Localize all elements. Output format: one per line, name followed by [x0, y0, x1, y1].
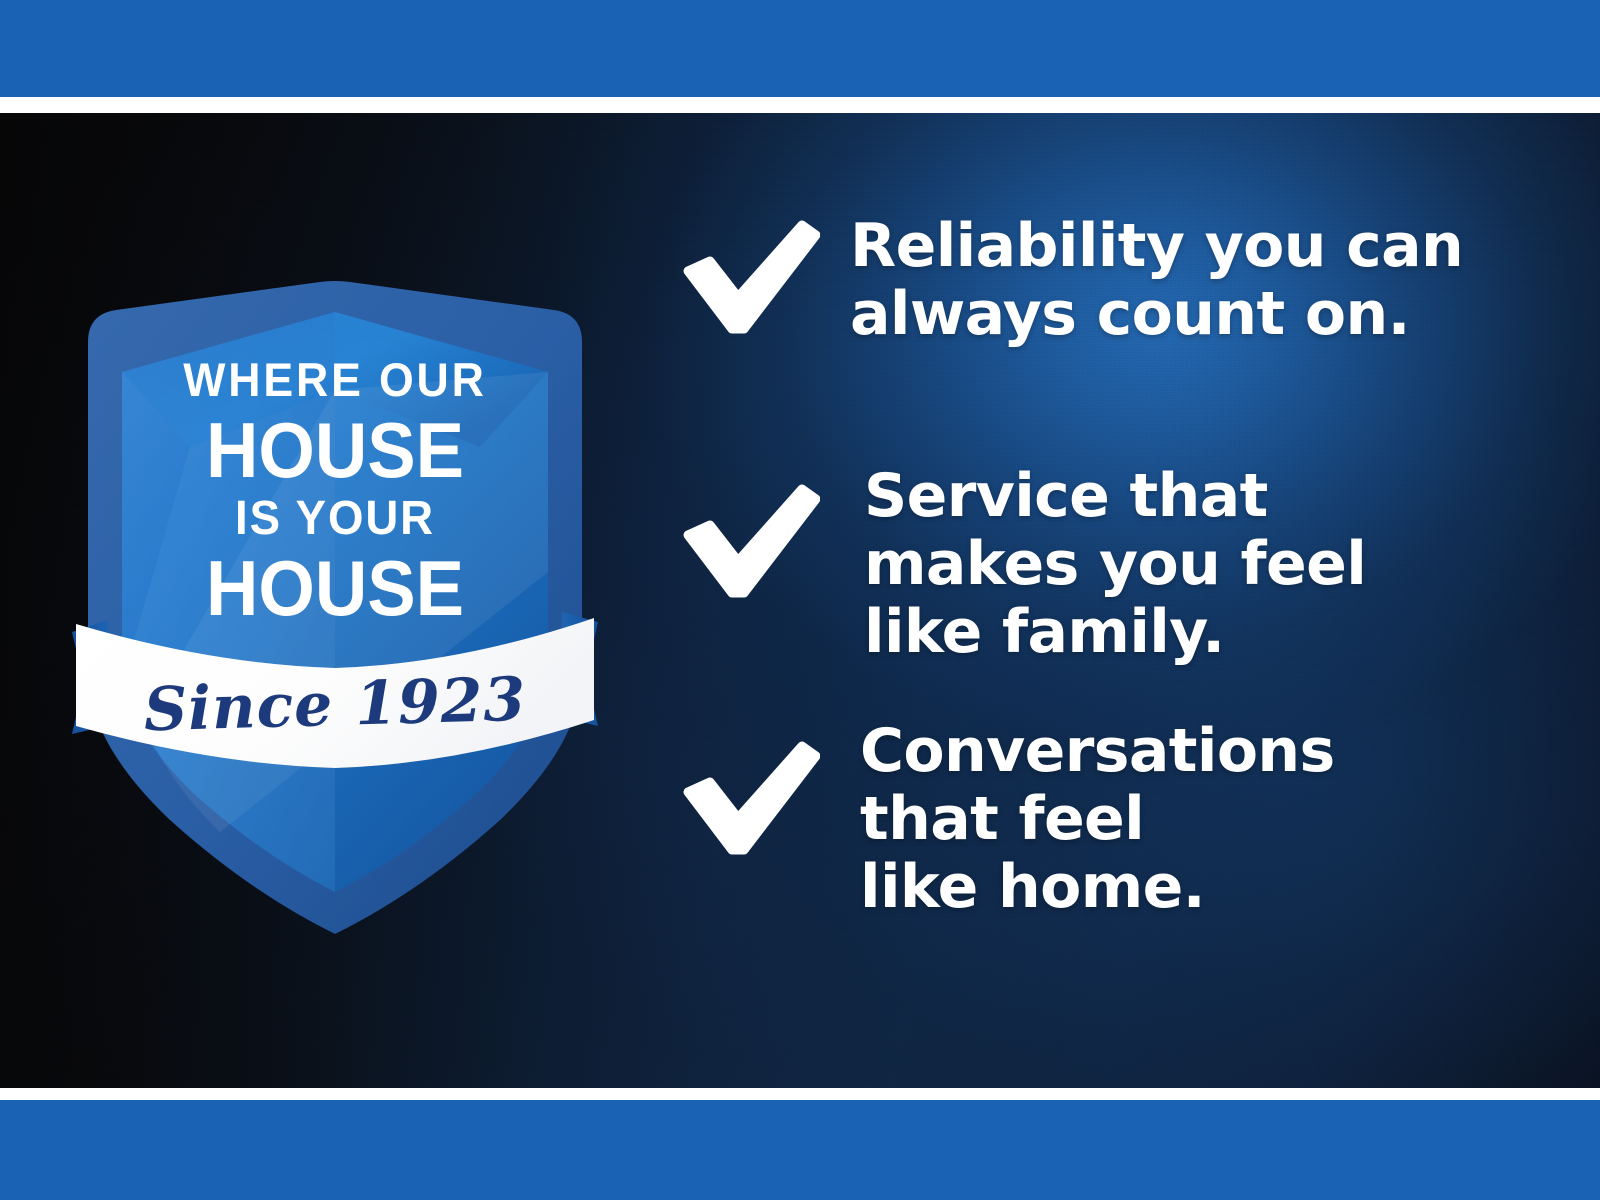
- top-brand-bar: [0, 0, 1600, 97]
- benefit-item-3: Conversations that feel like home.: [680, 718, 1335, 921]
- checkmark-icon: [680, 219, 820, 339]
- bottom-brand-bar: [0, 1100, 1600, 1200]
- badge-line-3: IS YOUR: [83, 495, 587, 543]
- benefit-item-2: Service that makes you feel like family.: [680, 463, 1366, 666]
- checkmark-icon: [680, 740, 820, 860]
- badge-line-4: HOUSE: [89, 549, 582, 627]
- checkmark-icon: [680, 483, 820, 603]
- benefit-text-2: Service that makes you feel like family.: [864, 463, 1366, 666]
- promo-graphic: WHERE OUR HOUSE IS YOUR HOUSE Since 1923…: [0, 0, 1600, 1200]
- benefit-text-1: Reliability you can always count on.: [850, 213, 1463, 349]
- benefits-list: Reliability you can always count on. Ser…: [660, 113, 1540, 1088]
- benefit-item-1: Reliability you can always count on.: [680, 213, 1463, 349]
- badge-line-1: WHERE OUR: [83, 356, 587, 403]
- benefit-text-3: Conversations that feel like home.: [860, 718, 1335, 921]
- badge-since-script: Since 1923: [69, 663, 601, 748]
- badge-wordmark: WHERE OUR HOUSE IS YOUR HOUSE: [70, 356, 600, 627]
- shield-badge-logo: WHERE OUR HOUSE IS YOUR HOUSE Since 1923: [70, 272, 600, 942]
- badge-line-2: HOUSE: [89, 411, 582, 489]
